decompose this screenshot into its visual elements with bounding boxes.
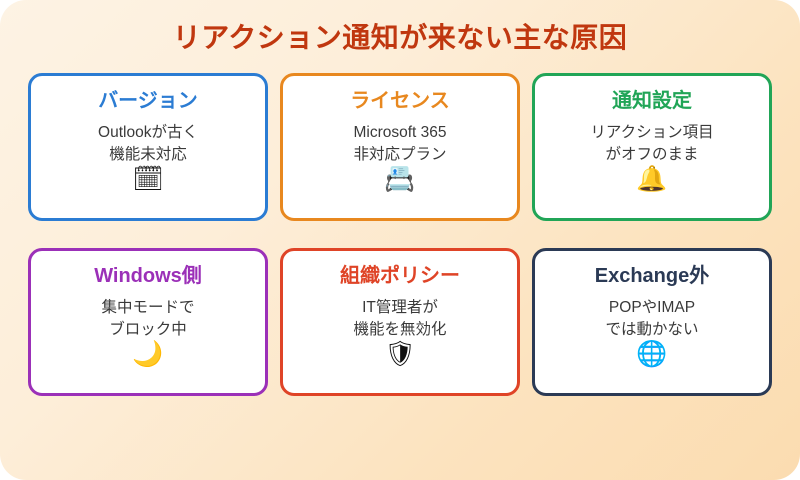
calendar-icon: 🗓 bbox=[132, 167, 164, 192]
card-body: Microsoft 365 非対応プラン bbox=[353, 122, 446, 166]
card-body: POPやIMAP では動かない bbox=[605, 297, 698, 341]
card-heading: バージョン bbox=[98, 90, 198, 112]
card-body: Outlookが古く 機能未対応 bbox=[98, 122, 198, 166]
cause-card-windows[interactable]: Windows側 集中モードで ブロック中 🌙 bbox=[28, 248, 268, 396]
card-heading: 組織ポリシー bbox=[340, 265, 460, 287]
cause-card-non-exchange[interactable]: Exchange外 POPやIMAP では動かない 🌐 bbox=[532, 248, 772, 396]
cause-card-version[interactable]: バージョン Outlookが古く 機能未対応 🗓 bbox=[28, 73, 268, 221]
infographic-poster: リアクション通知が来ない主な原因 バージョン Outlookが古く 機能未対応 … bbox=[0, 0, 800, 480]
card-heading: Windows側 bbox=[94, 265, 202, 287]
card-body: リアクション項目 がオフのまま bbox=[590, 122, 713, 166]
card-heading: 通知設定 bbox=[612, 90, 692, 112]
id-card-icon: 📇 bbox=[384, 167, 415, 192]
card-body: 集中モードで ブロック中 bbox=[101, 297, 194, 341]
card-body: IT管理者が 機能を無効化 bbox=[353, 297, 446, 341]
card-heading: ライセンス bbox=[350, 90, 450, 112]
cause-card-notification-settings[interactable]: 通知設定 リアクション項目 がオフのまま 🔔 bbox=[532, 73, 772, 221]
bell-icon: 🔔 bbox=[636, 167, 667, 192]
cause-card-license[interactable]: ライセンス Microsoft 365 非対応プラン 📇 bbox=[280, 73, 520, 221]
crescent-moon-icon: 🌙 bbox=[132, 342, 163, 367]
cause-card-grid: バージョン Outlookが古く 機能未対応 🗓 ライセンス Microsoft… bbox=[28, 73, 772, 396]
shield-icon: 🛡 bbox=[384, 342, 416, 367]
card-heading: Exchange外 bbox=[595, 265, 709, 287]
cause-card-org-policy[interactable]: 組織ポリシー IT管理者が 機能を無効化 🛡 bbox=[280, 248, 520, 396]
page-title: リアクション通知が来ない主な原因 bbox=[173, 23, 628, 54]
globe-icon: 🌐 bbox=[636, 342, 667, 367]
